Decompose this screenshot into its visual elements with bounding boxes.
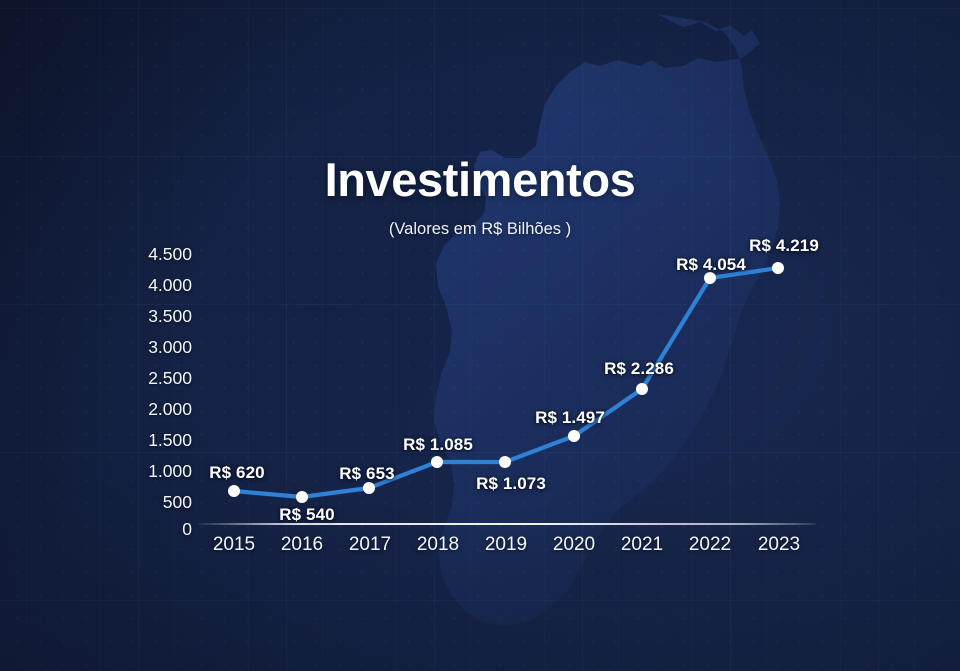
data-label: R$ 620 <box>209 463 264 483</box>
data-label: R$ 540 <box>279 505 334 525</box>
data-label: R$ 1.085 <box>403 435 473 455</box>
infographic-canvas: Investimentos (Valores em R$ Bilhões ) 4… <box>0 0 960 671</box>
data-label: R$ 1.073 <box>476 474 546 494</box>
line-chart: Investimentos (Valores em R$ Bilhões ) 4… <box>0 0 960 671</box>
x-tick-label: 2018 <box>417 535 459 554</box>
x-tick-label: 2023 <box>758 535 800 554</box>
series-plot <box>0 0 960 671</box>
x-tick-label: 2019 <box>485 535 527 554</box>
data-label: R$ 2.286 <box>604 359 674 379</box>
x-tick-label: 2016 <box>281 535 323 554</box>
data-label: R$ 4.054 <box>676 255 746 275</box>
data-label: R$ 653 <box>339 464 394 484</box>
x-tick-label: 2022 <box>689 535 731 554</box>
x-tick-label: 2021 <box>621 535 663 554</box>
x-axis-tick-labels: 2015 2016 2017 2018 2019 2020 2021 2022 … <box>0 535 960 565</box>
data-label: R$ 4.219 <box>749 236 819 256</box>
x-tick-label: 2015 <box>213 535 255 554</box>
x-tick-label: 2017 <box>349 535 391 554</box>
data-label: R$ 1.497 <box>535 408 605 428</box>
x-tick-label: 2020 <box>553 535 595 554</box>
